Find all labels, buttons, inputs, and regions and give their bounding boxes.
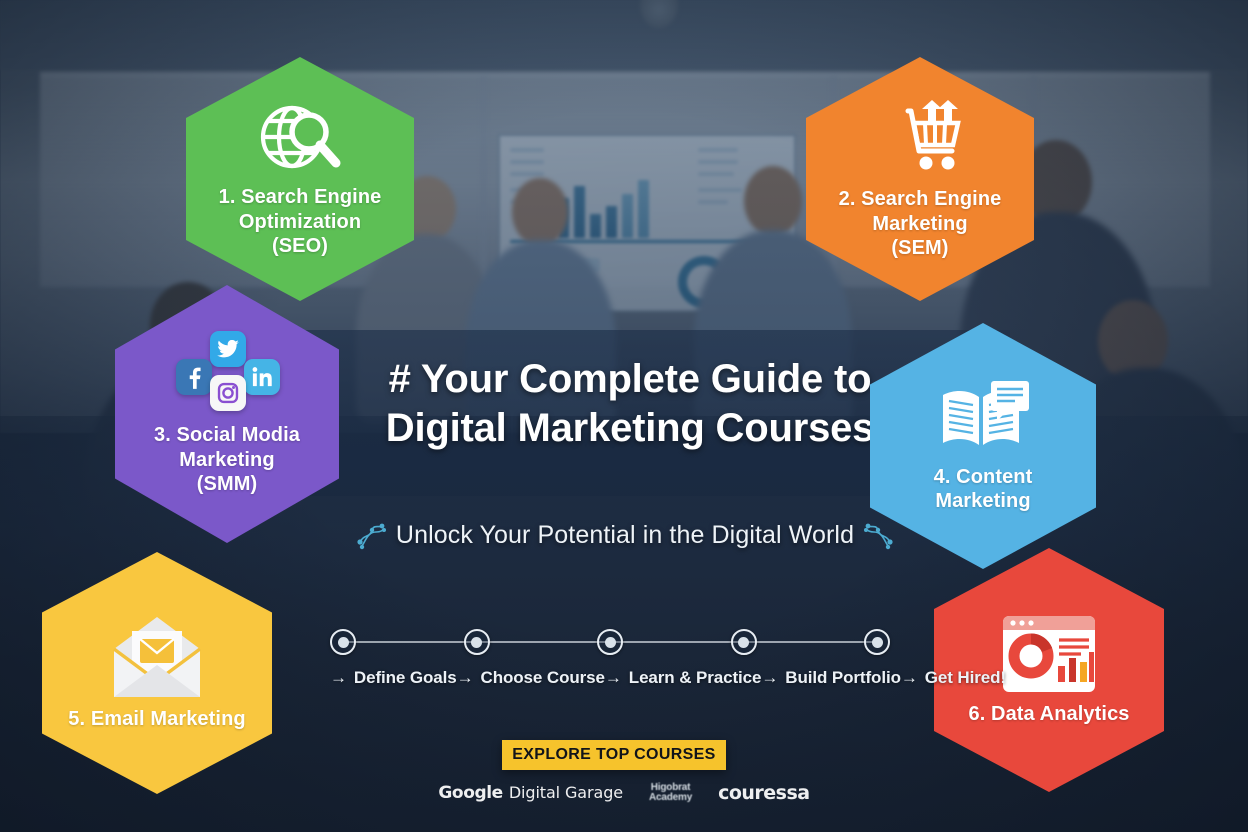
infographic-poster: # Your Complete Guide to Digital Marketi… [0,0,1248,832]
roadmap-steps: → Define Goals → Choose Course → Learn &… [330,668,890,688]
network-nodes-icon-right [862,518,896,552]
roadmap-node-2[interactable] [464,629,490,655]
shopping-cart-arrows-icon [874,97,966,179]
roadmap-node-3[interactable] [597,629,623,655]
facebook-icon [176,359,212,395]
hexagon-email-label: 5. Email Marketing [62,707,251,731]
roadmap-step-4: → Build Portfolio [761,668,901,688]
arrow-icon: → [901,668,918,688]
hexagon-seo-label: 1. Search Engine Optimization (SEO) [213,185,388,258]
twitter-icon [210,331,246,367]
social-media-icons-cluster [172,331,282,413]
roadmap: → Define Goals → Choose Course → Learn &… [330,628,890,688]
open-envelope-icon [112,615,202,699]
page-title: # Your Complete Guide to Digital Marketi… [330,355,930,453]
subtitle-text: Unlock Your Potential in the Digital Wor… [396,521,854,550]
hubspot-academy-logo: Higobrat Academy [649,783,692,803]
globe-magnifier-icon [254,99,346,177]
google-digital-garage-logo: Google Digital Garage [438,783,623,803]
digital-garage-wordmark: Digital Garage [509,783,623,802]
arrow-icon: → [605,668,622,688]
roadmap-step-1: → Define Goals [330,668,457,688]
explore-top-courses-button[interactable]: EXPLORE TOP COURSES [502,740,726,770]
dashboard-chart-window-icon [1001,614,1097,694]
roadmap-step-1-label: Define Goals [354,668,457,688]
roadmap-rail [330,628,890,656]
hexagon-smm-label: 3. Social Modia Marketing (SMM) [148,423,306,496]
couressa-logo: couressa [718,782,810,804]
network-nodes-icon-left [354,518,388,552]
hexagon-sem-label: 2. Search Engine Marketing (SEM) [833,187,1008,260]
roadmap-step-2: → Choose Course [457,668,605,688]
roadmap-step-3-label: Learn & Practice [629,668,762,688]
title-line-1: # Your Complete Guide to [389,357,872,401]
subtitle-row: Unlock Your Potential in the Digital Wor… [360,518,890,552]
hubspot-line-2: Academy [649,792,692,803]
roadmap-node-1[interactable] [330,629,356,655]
roadmap-step-5: → Get Hired! [901,668,1006,688]
partner-logos: Google Digital Garage Higobrat Academy c… [0,782,1248,804]
hexagon-content-label: 4. Content Marketing [928,465,1039,514]
roadmap-step-3: → Learn & Practice [605,668,761,688]
hexagon-analytics-label: 6. Data Analytics [962,702,1135,726]
roadmap-node-4[interactable] [731,629,757,655]
title-line-2: Digital Marketing Courses [330,404,930,453]
roadmap-step-2-label: Choose Course [481,668,605,688]
arrow-icon: → [761,668,778,688]
instagram-icon [210,375,246,411]
roadmap-step-4-label: Build Portfolio [785,668,901,688]
arrow-icon: → [457,668,474,688]
linkedin-icon [244,359,280,395]
roadmap-step-5-label: Get Hired! [925,668,1006,688]
roadmap-node-5[interactable] [864,629,890,655]
open-book-speech-bubble-icon [935,379,1031,457]
arrow-icon: → [330,668,347,688]
google-wordmark: Google [438,783,502,803]
